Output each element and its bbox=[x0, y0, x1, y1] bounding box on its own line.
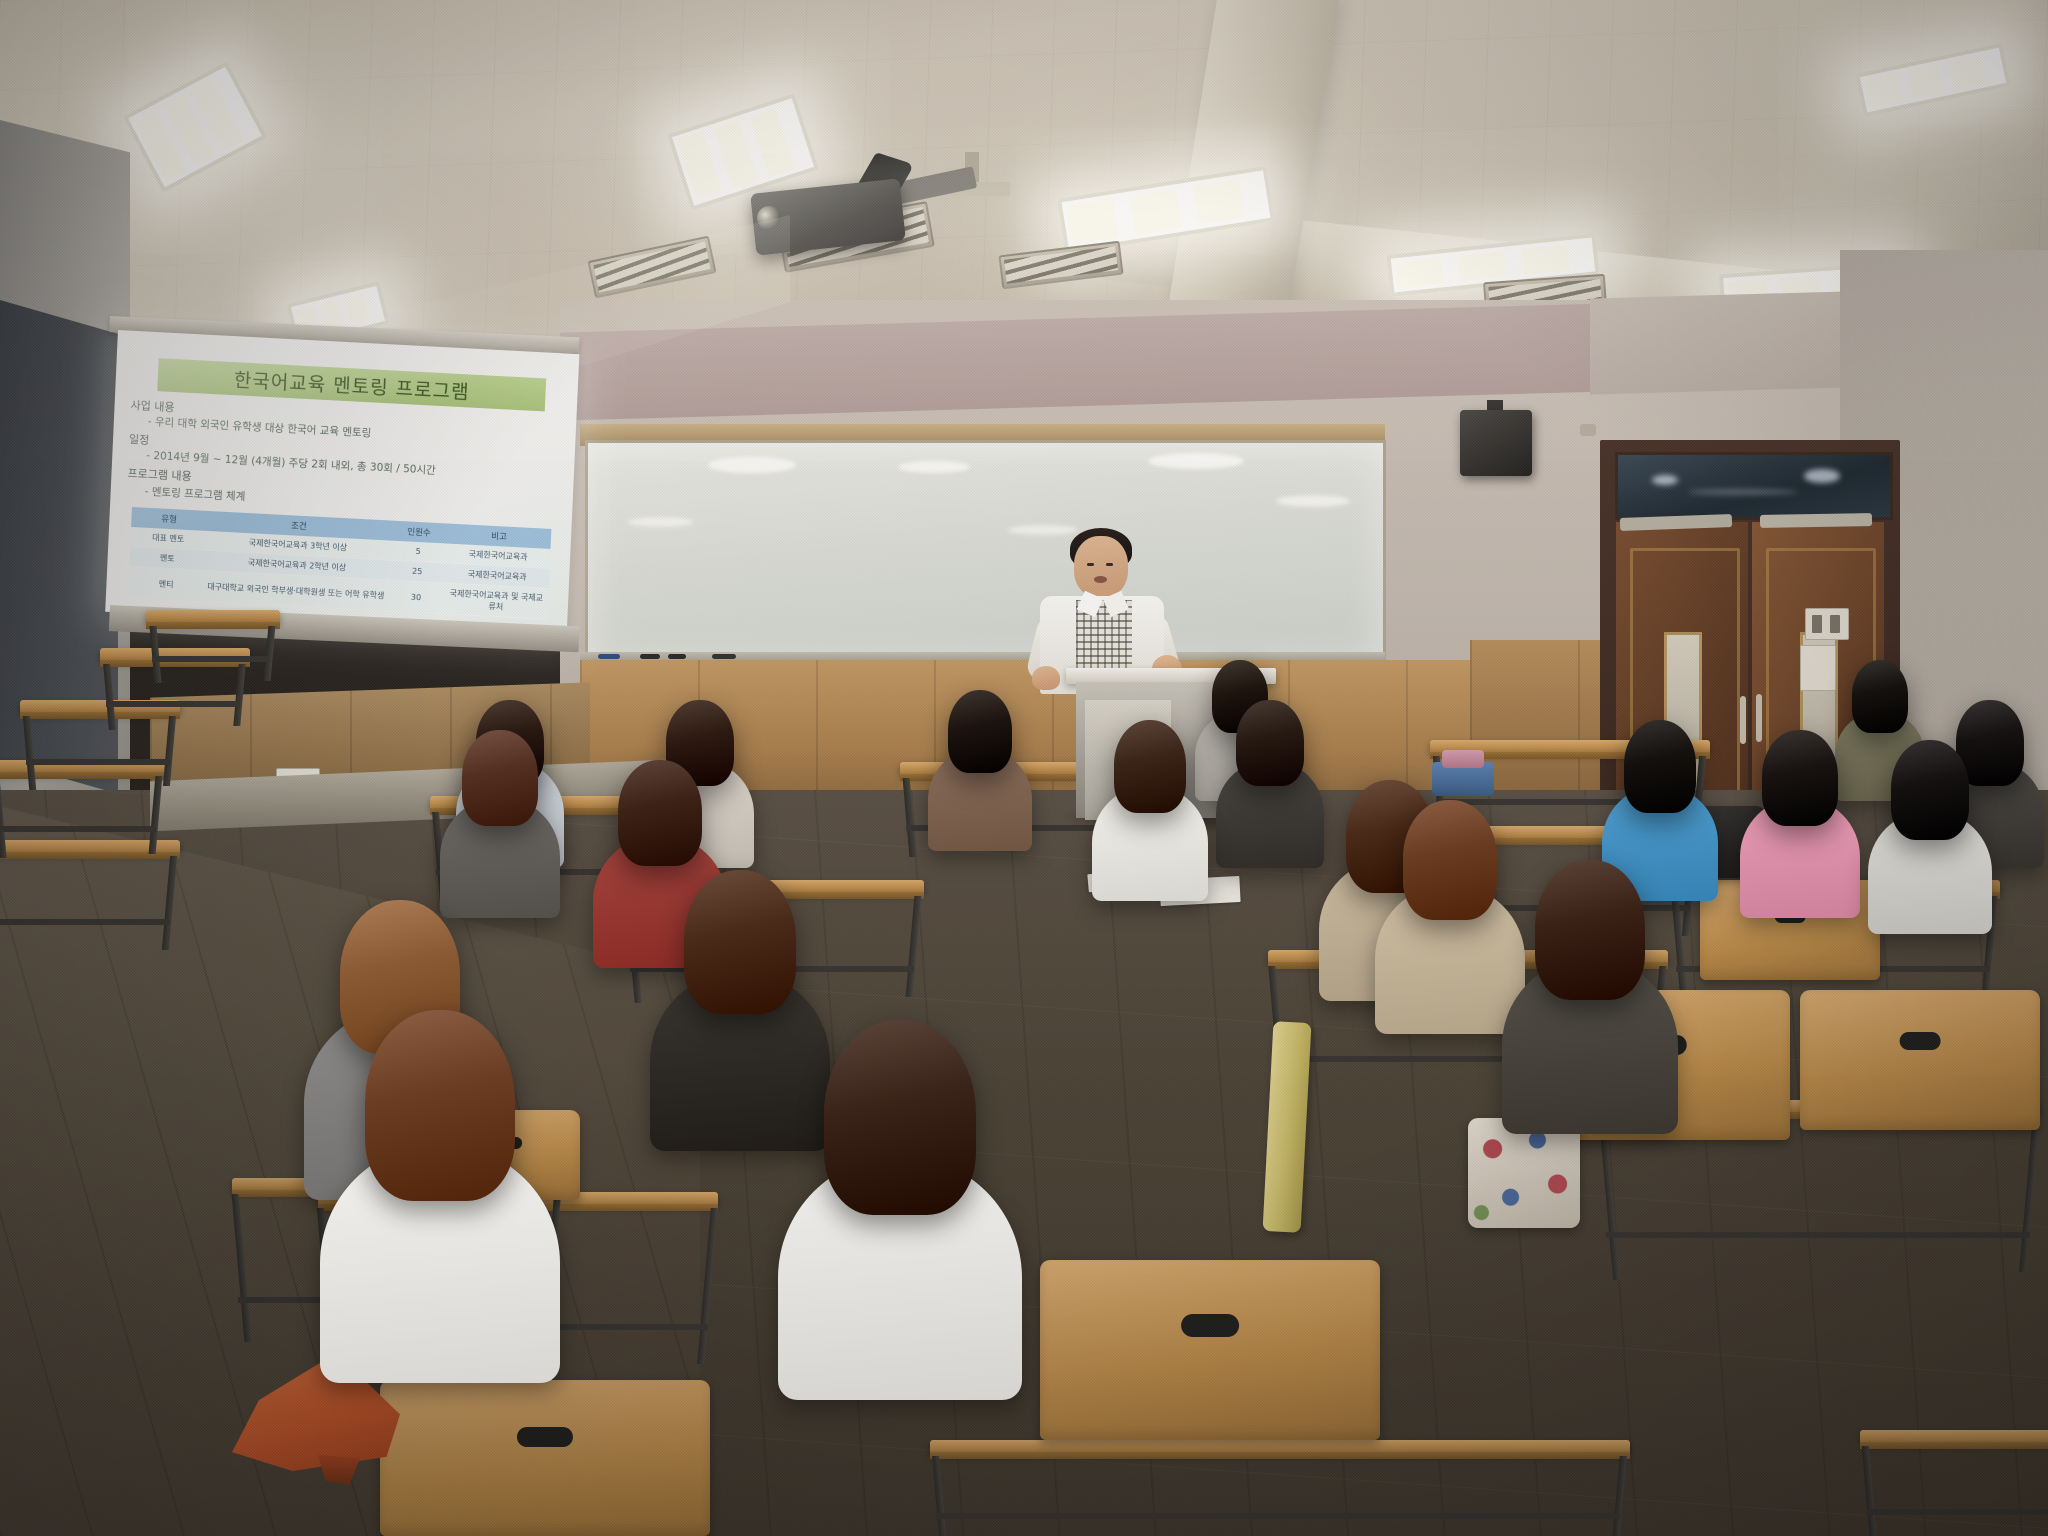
marker-black2-icon[interactable] bbox=[668, 654, 686, 659]
slide-heading-3: 프로그램 내용 bbox=[127, 465, 192, 484]
desk-rail bbox=[0, 919, 170, 925]
light-switch-panel-lower[interactable] bbox=[1800, 645, 1836, 691]
umbrella-tip bbox=[318, 1455, 360, 1485]
chair-foreground-left bbox=[380, 1380, 710, 1536]
light-tube-icon bbox=[1458, 251, 1506, 282]
desk-leg bbox=[232, 1194, 252, 1342]
slide-heading-2: 일정 bbox=[129, 431, 150, 448]
desk-leg bbox=[0, 776, 7, 858]
slide-heading-1: 사업 내용 bbox=[130, 397, 175, 415]
light-tube-icon bbox=[1193, 178, 1245, 225]
person-hair bbox=[365, 1010, 515, 1201]
desk-rail bbox=[106, 701, 240, 707]
slide-table: 유형 조건 인원수 비고 대표 멘토 국제한국어교육과 3학년 이상 5 국제한… bbox=[128, 507, 552, 620]
desk-rail bbox=[936, 1513, 1620, 1519]
person-hair bbox=[1403, 800, 1497, 920]
desk-leg bbox=[103, 664, 116, 730]
slide-title: 한국어교육 멘토링 프로그램 bbox=[233, 365, 470, 404]
desk-leg bbox=[1612, 1456, 1627, 1536]
student-man-stripes bbox=[948, 690, 1013, 847]
desk-rail bbox=[0, 826, 156, 832]
chair-backrest bbox=[1800, 990, 2040, 1130]
student-white-blouse bbox=[1114, 720, 1187, 897]
desk-leg bbox=[2019, 1116, 2040, 1272]
person-hair bbox=[462, 730, 537, 826]
desk-edge bbox=[930, 1452, 1630, 1459]
light-tube-icon bbox=[1395, 257, 1443, 288]
light-tube-icon bbox=[1129, 188, 1181, 235]
presentation-slide: 한국어교육 멘토링 프로그램 사업 내용 - 우리 대학 외국인 유학생 대상 … bbox=[105, 330, 579, 636]
person-hair bbox=[1114, 720, 1187, 813]
person-hair bbox=[1535, 860, 1645, 1000]
person-hair bbox=[684, 870, 796, 1014]
slide-td-2-2: 30 bbox=[387, 580, 445, 614]
desk-leg bbox=[697, 1208, 718, 1364]
door-closer-right bbox=[1760, 513, 1872, 528]
student-bob-left bbox=[462, 730, 537, 913]
desk-edge bbox=[1860, 1442, 2048, 1449]
desk-leg bbox=[1599, 1116, 1620, 1280]
desk-rail bbox=[1866, 1509, 2048, 1515]
presenter-mouth bbox=[1094, 576, 1107, 583]
person-hair bbox=[1891, 740, 1969, 840]
chair-handle-cutout-icon bbox=[517, 1427, 573, 1447]
desk-leg bbox=[906, 896, 922, 997]
person-hair bbox=[1624, 720, 1697, 813]
ceiling-sensor-icon bbox=[1580, 424, 1596, 436]
person-hair bbox=[824, 1020, 976, 1215]
light-tube-icon bbox=[1521, 244, 1569, 275]
light-tube-icon bbox=[1066, 198, 1118, 245]
slide-title-bar: 한국어교육 멘토링 프로그램 bbox=[157, 358, 546, 411]
student-beige-coat bbox=[1403, 800, 1497, 1028]
student-front-right-white bbox=[824, 1020, 976, 1390]
student-front-left-white bbox=[365, 1010, 515, 1374]
door-handle-right-icon[interactable] bbox=[1756, 694, 1762, 742]
slide-bullet-1: - 우리 대학 외국인 유학생 대상 한국어 교육 멘토링 bbox=[148, 414, 372, 441]
marker-blue-icon[interactable] bbox=[598, 654, 620, 659]
desk-front-c bbox=[930, 1440, 1630, 1536]
marker-black-icon[interactable] bbox=[640, 654, 660, 659]
desk-leg bbox=[1862, 1446, 1878, 1536]
door-transom-window bbox=[1615, 452, 1893, 520]
desk-leg bbox=[264, 626, 276, 681]
light-switch-panel[interactable] bbox=[1805, 608, 1849, 640]
student-pattern-dress bbox=[1535, 860, 1645, 1127]
presenter-head bbox=[1074, 536, 1128, 598]
desk-empty-l5 bbox=[146, 610, 280, 680]
chair-mid-right-2 bbox=[1800, 990, 2040, 1130]
student-stripe-right bbox=[1891, 740, 1969, 929]
slide-td-2-3: 국제한국어교육과 및 국제교류처 bbox=[443, 583, 548, 619]
classroom-scene: 한국어교육 멘토링 프로그램 사업 내용 - 우리 대학 외국인 유학생 대상 … bbox=[0, 0, 2048, 1536]
desk-leg bbox=[149, 626, 161, 683]
floral-bag bbox=[1468, 1118, 1580, 1228]
desk-rail bbox=[26, 759, 170, 765]
desk-leg bbox=[932, 1456, 947, 1536]
slide-td-2-0: 멘티 bbox=[128, 566, 205, 601]
person-hair bbox=[1852, 660, 1909, 733]
chair-backrest bbox=[380, 1380, 710, 1536]
desk-leg bbox=[1671, 896, 1687, 1003]
presenter-hand-left bbox=[1032, 666, 1060, 690]
desk-leg bbox=[23, 716, 36, 790]
door-handle-left-icon[interactable] bbox=[1740, 696, 1746, 744]
person-hair bbox=[948, 690, 1013, 773]
projection-screen: 한국어교육 멘토링 프로그램 사업 내용 - 우리 대학 외국인 유학생 대상 … bbox=[105, 330, 579, 636]
marker-eraser-icon[interactable] bbox=[712, 654, 736, 659]
person-hair bbox=[618, 760, 701, 866]
desk-rail bbox=[152, 656, 270, 662]
chair-handle-cutout-icon bbox=[1181, 1314, 1239, 1337]
student-center-dark bbox=[1236, 700, 1303, 864]
whiteboard[interactable] bbox=[585, 440, 1386, 666]
person-hair bbox=[1762, 730, 1837, 826]
desk-rail bbox=[1606, 1232, 2030, 1238]
desk-leg bbox=[903, 778, 917, 857]
student-pink-shirt bbox=[1762, 730, 1837, 913]
desk-edge bbox=[146, 622, 280, 629]
chair-foreground-right bbox=[1040, 1260, 1380, 1440]
chair-backrest bbox=[1040, 1260, 1380, 1440]
person-hair bbox=[1236, 700, 1303, 786]
chair-handle-cutout-icon bbox=[1900, 1032, 1941, 1050]
desk-front-r bbox=[1860, 1430, 2048, 1536]
desk-leg bbox=[162, 856, 177, 950]
pink-item-prop bbox=[1442, 750, 1484, 768]
slide-bullet-3: - 멘토링 프로그램 체계 bbox=[144, 484, 245, 504]
wall-speaker bbox=[1460, 410, 1532, 476]
student-mid-ponytail bbox=[684, 870, 796, 1143]
